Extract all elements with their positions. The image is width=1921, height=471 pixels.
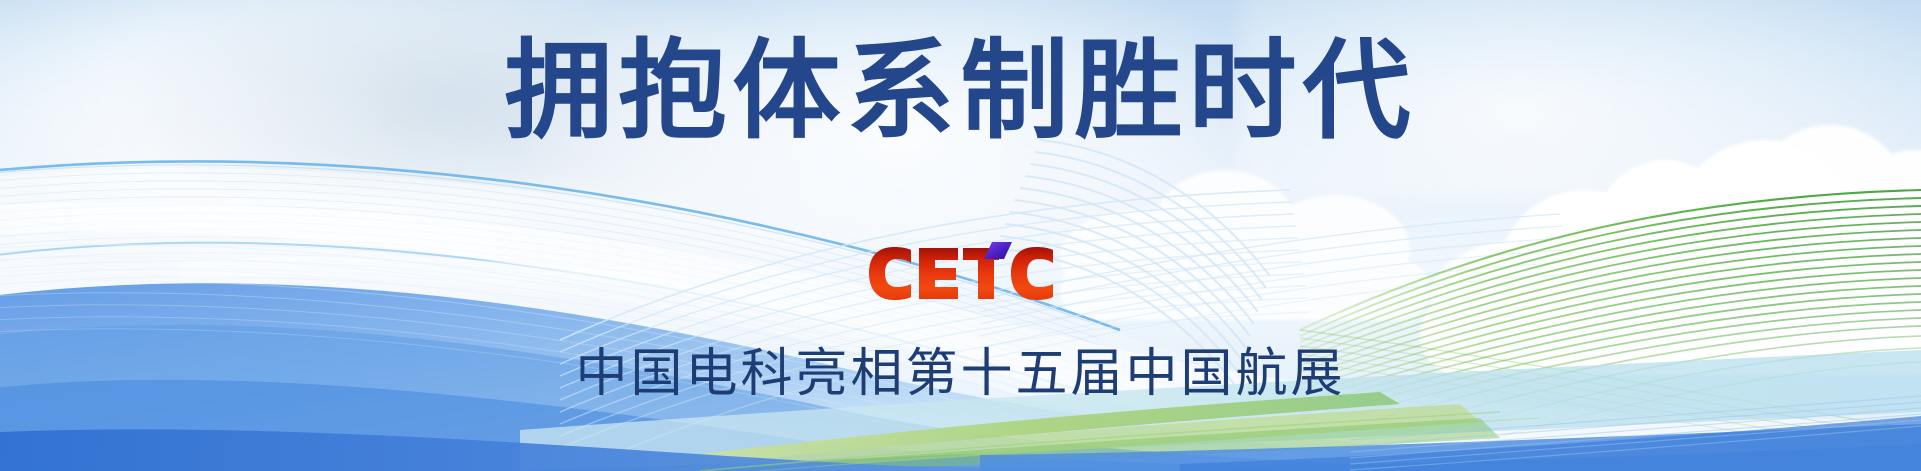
- cetc-airshow-banner: 拥抱体系制胜时代: [0, 0, 1921, 471]
- logo-container: [0, 240, 1921, 310]
- cetc-logo: [867, 242, 1055, 308]
- cetc-accent-parallelogram: [984, 242, 1012, 259]
- banner-subtitle: 中国电科亮相第十五届中国航展: [0, 346, 1921, 403]
- page-title: 拥抱体系制胜时代: [0, 38, 1921, 146]
- banner-content: 拥抱体系制胜时代: [0, 0, 1921, 471]
